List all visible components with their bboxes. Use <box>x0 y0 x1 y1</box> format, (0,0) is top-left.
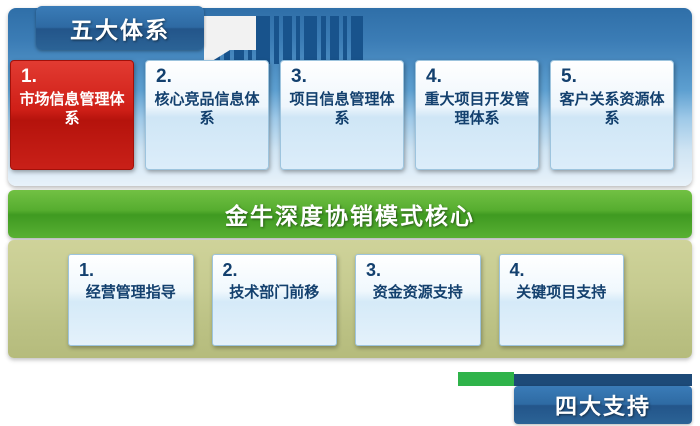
bottom-card-3-label: 资金资源支持 <box>367 283 469 302</box>
top-card-4-number: 4. <box>426 67 442 88</box>
top-card-5-number: 5. <box>561 67 577 88</box>
bottom-dark-strip <box>514 374 692 386</box>
top-card-4-label: 重大项目开发管理体系 <box>416 90 538 128</box>
top-card-5[interactable]: 5. 客户关系资源体系 <box>550 60 674 170</box>
top-title-text: 五大体系 <box>70 11 170 45</box>
decorative-white-block <box>204 16 256 50</box>
top-card-2-number: 2. <box>156 67 172 88</box>
bottom-card-1[interactable]: 1. 经营管理指导 <box>68 254 194 346</box>
top-card-3-label: 项目信息管理体系 <box>281 90 403 128</box>
top-card-3-number: 3. <box>291 67 307 88</box>
top-card-3[interactable]: 3. 项目信息管理体系 <box>280 60 404 170</box>
top-card-4[interactable]: 4. 重大项目开发管理体系 <box>415 60 539 170</box>
top-card-2[interactable]: 2. 核心竞品信息体系 <box>145 60 269 170</box>
top-card-1-label: 市场信息管理体系 <box>11 90 133 128</box>
top-card-1[interactable]: 1. 市场信息管理体系 <box>10 60 134 170</box>
bottom-card-1-label: 经营管理指导 <box>80 283 182 302</box>
top-card-2-label: 核心竞品信息体系 <box>146 90 268 128</box>
bottom-card-4-number: 4. <box>510 261 525 281</box>
bottom-title-text: 四大支持 <box>555 389 651 421</box>
bottom-green-tab <box>458 372 514 386</box>
core-green-band: 金牛深度协销模式核心 <box>8 190 692 238</box>
bottom-card-2-number: 2. <box>223 261 238 281</box>
diagram-canvas: 五大体系 1. 市场信息管理体系 2. 核心竞品信息体系 3. 项目信息管理体系… <box>0 0 700 426</box>
bottom-title-banner: 四大支持 <box>514 386 692 424</box>
bottom-card-4[interactable]: 4. 关键项目支持 <box>499 254 625 346</box>
bottom-card-2[interactable]: 2. 技术部门前移 <box>212 254 338 346</box>
top-title-banner: 五大体系 <box>36 6 204 50</box>
bottom-card-3[interactable]: 3. 资金资源支持 <box>355 254 481 346</box>
bottom-card-row: 1. 经营管理指导 2. 技术部门前移 3. 资金资源支持 4. 关键项目支持 <box>68 254 624 346</box>
bottom-card-4-label: 关键项目支持 <box>510 283 612 302</box>
top-card-row: 1. 市场信息管理体系 2. 核心竞品信息体系 3. 项目信息管理体系 4. 重… <box>10 60 674 170</box>
top-card-5-label: 客户关系资源体系 <box>551 90 673 128</box>
bottom-card-3-number: 3. <box>366 261 381 281</box>
bottom-card-2-label: 技术部门前移 <box>223 283 325 302</box>
top-card-1-number: 1. <box>21 67 37 88</box>
bottom-card-1-number: 1. <box>79 261 94 281</box>
core-green-band-text: 金牛深度协销模式核心 <box>225 197 475 231</box>
